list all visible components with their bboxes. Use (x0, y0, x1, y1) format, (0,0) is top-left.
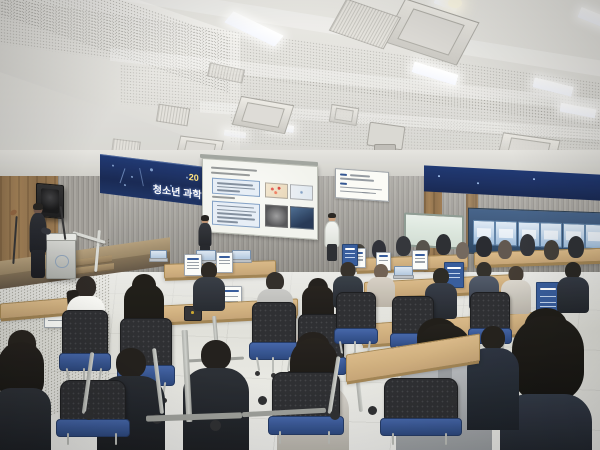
banner-year: 20 (189, 172, 199, 183)
audience-head (476, 236, 492, 257)
banner-graphic-line (119, 168, 125, 183)
audience-head (456, 242, 469, 259)
slide-text-box-lower (212, 201, 260, 228)
student-seated (192, 262, 226, 312)
chair-caster (210, 420, 221, 431)
chair-caster (330, 410, 340, 420)
photo-scene: 20 청소년 과학 (0, 0, 600, 450)
staff-legs (327, 244, 337, 261)
slide-image-diagram (290, 184, 314, 201)
presenter-legs (31, 250, 45, 278)
speaker-podium[interactable] (46, 235, 76, 279)
student-foreground-left (0, 330, 50, 450)
standing-staff-center (325, 214, 339, 260)
banner-graphic-line-2 (139, 168, 144, 186)
student-hair (512, 316, 584, 402)
whiteboard (404, 212, 464, 249)
laptop-computer (150, 250, 165, 262)
slide-image-colorful-cells (265, 182, 289, 199)
audience-head (520, 234, 535, 256)
chair[interactable] (384, 378, 456, 450)
table-tent-card (412, 250, 428, 270)
audience-head (498, 240, 512, 259)
laptop-computer (232, 250, 249, 263)
chair-caster (258, 396, 267, 405)
ceiling-light-3 (577, 7, 600, 32)
banner-title: 청소년 과학 (153, 180, 202, 201)
student-foreground-dark (182, 340, 250, 450)
slide-image-dark-blue (290, 206, 315, 230)
chair-caster (448, 396, 457, 405)
presenter-at-podium (28, 204, 48, 278)
wall-information-sign (335, 168, 389, 202)
slide-text-box-upper (212, 178, 260, 198)
acoustic-ceiling (0, 0, 600, 162)
audience-head (436, 234, 451, 255)
chair-caster (84, 410, 94, 420)
slide-image-grayscale-spiral (265, 204, 289, 228)
student-seated (556, 262, 590, 314)
audience-head (544, 240, 559, 260)
projection-screen (202, 158, 318, 240)
audience-head (396, 236, 411, 256)
ceiling-light-9 (448, 0, 462, 8)
audience-head (568, 236, 584, 258)
chair-caster (368, 406, 377, 415)
monitor-6 (585, 224, 600, 249)
laptop-computer (394, 266, 411, 279)
